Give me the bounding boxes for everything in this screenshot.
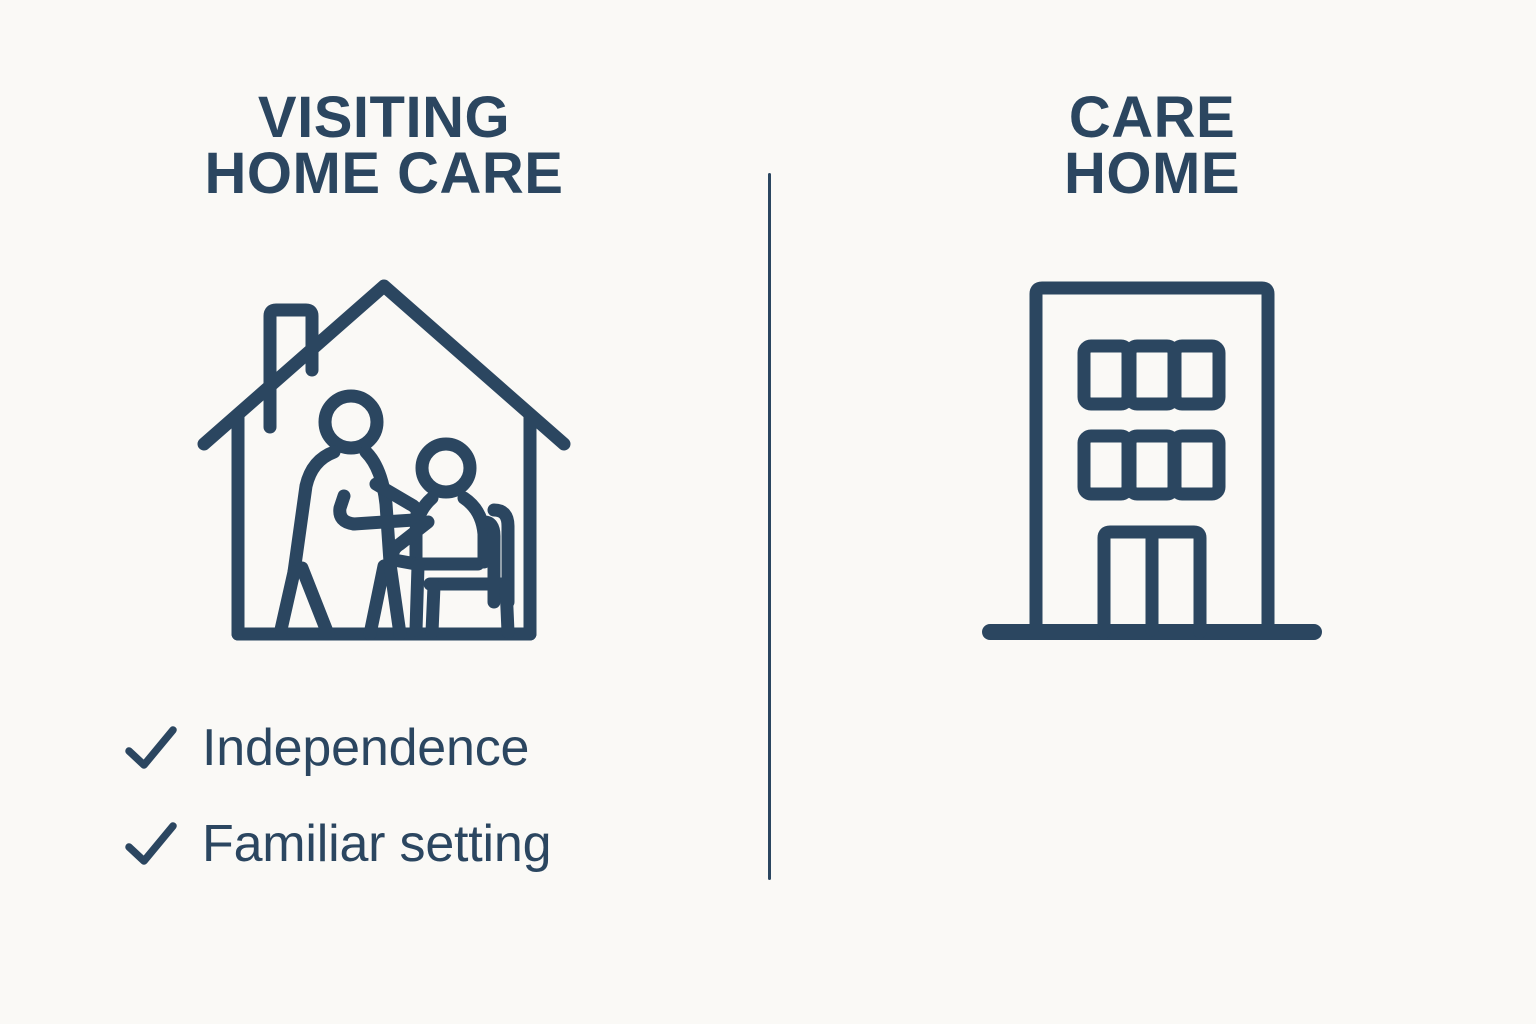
column-visiting-home-care: VISITING HOME CARE [0, 0, 768, 1024]
list-item: Independence [122, 700, 551, 796]
benefit-label: Familiar setting [202, 818, 551, 870]
check-icon [122, 719, 180, 777]
house-with-caregiver-icon [0, 272, 768, 652]
care-comparison-board: VISITING HOME CARE [0, 0, 1536, 1024]
page-title-care-home: CARE HOME [768, 90, 1536, 201]
column-care-home: CARE HOME [768, 0, 1536, 1024]
care-home-building-icon [768, 272, 1536, 652]
page-title-visiting-home-care: VISITING HOME CARE [0, 90, 768, 201]
benefit-list-visiting-home-care: Independence Familiar setting [122, 700, 551, 892]
benefit-label: Independence [202, 722, 529, 774]
check-icon [122, 815, 180, 873]
list-item: Familiar setting [122, 796, 551, 892]
